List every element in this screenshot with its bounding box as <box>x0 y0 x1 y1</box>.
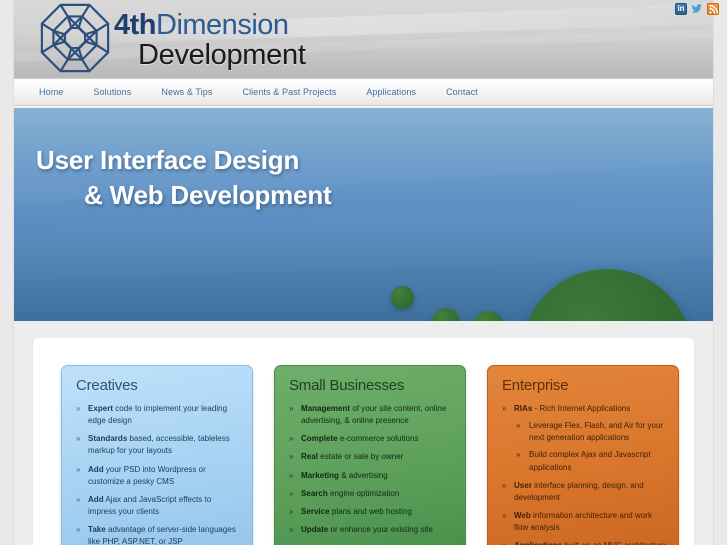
bullet-icon: » <box>289 403 293 415</box>
column-title-small-businesses: Small Businesses <box>289 377 453 394</box>
bullet-lead: Search <box>301 489 328 498</box>
main-navigation: Home Solutions News & Tips Clients & Pas… <box>14 78 713 106</box>
bullet-lead: Expert <box>88 404 113 413</box>
bullet-icon: » <box>289 470 293 482</box>
list-item: »Take advantage of server-side languages… <box>74 524 240 545</box>
bullet-rest: Ajax and JavaScript effects to impress y… <box>88 495 211 516</box>
list-item: »Web information architecture and work f… <box>500 510 666 534</box>
bullet-lead: Complete <box>301 434 338 443</box>
bullet-rest: & advertising <box>339 471 388 480</box>
nav-item-applications[interactable]: Applications <box>366 87 416 97</box>
nav-item-news-tips[interactable]: News & Tips <box>161 87 212 97</box>
twitter-icon[interactable] <box>691 3 703 15</box>
bullet-lead: User <box>514 481 532 490</box>
rss-icon[interactable] <box>707 3 719 15</box>
bullet-lead: Web <box>514 511 531 520</box>
bullet-rest: advantage of server-side languages like … <box>88 525 236 545</box>
bullet-lead: Update <box>301 525 328 534</box>
bullet-lead: Real <box>301 452 318 461</box>
bullet-icon: » <box>516 420 520 432</box>
bullet-lead: Standards <box>88 434 127 443</box>
bullet-rest: information architecture and work flow a… <box>514 511 652 532</box>
hero-title-line-2: & Web Development <box>84 178 332 212</box>
main-content-area: Creatives »Expert code to implement your… <box>14 321 713 545</box>
bullet-icon: » <box>76 464 80 476</box>
bullet-lead: RIAs <box>514 404 532 413</box>
bullet-lead: Service <box>301 507 330 516</box>
bullet-icon: » <box>76 524 80 536</box>
bullet-icon: » <box>289 451 293 463</box>
list-item: »Marketing & advertising <box>287 470 453 482</box>
sub-bullet-text: Leverage Flex, Flash, and Air for your n… <box>529 421 663 442</box>
site-logo[interactable]: 4thDimension Development <box>38 2 306 74</box>
decorative-dot-small <box>391 286 414 309</box>
list-item: »Add your PSD into Wordpress or customiz… <box>74 464 240 488</box>
bullet-icon: » <box>289 506 293 518</box>
bullet-rest: plans and web hosting <box>330 507 412 516</box>
bullet-rest: - Rich Internet Applications <box>532 404 630 413</box>
column-creatives: Creatives »Expert code to implement your… <box>61 365 253 545</box>
nav-item-home[interactable]: Home <box>39 87 63 97</box>
bullet-rest: estate or sale by owner <box>318 452 403 461</box>
logo-dimension: Dimension <box>156 9 289 41</box>
bullet-lead: Management <box>301 404 350 413</box>
sub-list-item: »Leverage Flex, Flash, and Air for your … <box>514 420 666 444</box>
bullet-lead: Add <box>88 495 104 504</box>
content-card: Creatives »Expert code to implement your… <box>33 338 694 545</box>
sub-bullet-text: Build complex Ajax and Javascript applic… <box>529 450 651 471</box>
list-item: »Update or enhance your existing site <box>287 524 453 536</box>
list-item: »Search engine optimization <box>287 488 453 500</box>
sub-list-item: »Build complex Ajax and Javascript appli… <box>514 449 666 473</box>
list-item: »Service plans and web hosting <box>287 506 453 518</box>
logo-line-2: Development <box>138 41 306 70</box>
list-item: »Expert code to implement your leading e… <box>74 403 240 427</box>
bullet-icon: » <box>516 449 520 461</box>
sub-bullet-list-rias: »Leverage Flex, Flash, and Air for your … <box>514 420 666 474</box>
bullet-list-enterprise: »RIAs - Rich Internet Applications »Leve… <box>500 403 666 545</box>
page-root: 4thDimension Development Home Solutions … <box>0 0 727 545</box>
list-item: »Applications built on an MVC architectu… <box>500 540 666 545</box>
list-item: »RIAs - Rich Internet Applications »Leve… <box>500 403 666 474</box>
logo-wordmark: 4thDimension Development <box>114 7 306 70</box>
column-small-businesses: Small Businesses »Management of your sit… <box>274 365 466 545</box>
bullet-icon: » <box>76 433 80 445</box>
bullet-list-creatives: »Expert code to implement your leading e… <box>74 403 240 545</box>
list-item: »Management of your site content, online… <box>287 403 453 427</box>
site-header: 4thDimension Development <box>14 0 713 78</box>
list-item: »Add Ajax and JavaScript effects to impr… <box>74 494 240 518</box>
bullet-list-small-businesses: »Management of your site content, online… <box>287 403 453 536</box>
bullet-rest: interface planning, design, and developm… <box>514 481 644 502</box>
logo-th: th <box>130 9 156 41</box>
column-title-enterprise: Enterprise <box>502 377 666 394</box>
bullet-icon: » <box>289 524 293 536</box>
bullet-icon: » <box>502 540 506 545</box>
bullet-icon: » <box>502 480 506 492</box>
service-columns: Creatives »Expert code to implement your… <box>61 365 679 545</box>
bullet-icon: » <box>76 494 80 506</box>
logo-line-1: 4thDimension <box>114 11 306 40</box>
bullet-rest: or enhance your existing site <box>328 525 433 534</box>
nav-item-solutions[interactable]: Solutions <box>93 87 131 97</box>
bullet-icon: » <box>502 510 506 522</box>
list-item: »Complete e-commerce solutions <box>287 433 453 445</box>
hero-banner: User Interface Design & Web Development … <box>14 108 713 321</box>
bullet-rest: engine optimization <box>328 489 400 498</box>
bullet-icon: » <box>502 403 506 415</box>
logo-num: 4 <box>114 9 130 41</box>
hero-title-line-1: User Interface Design <box>36 145 299 175</box>
hero-title: User Interface Design & Web Development <box>36 143 332 212</box>
nav-item-contact[interactable]: Contact <box>446 87 478 97</box>
bullet-icon: » <box>289 433 293 445</box>
social-links-bar <box>675 0 719 18</box>
linkedin-icon[interactable] <box>675 3 687 15</box>
list-item: »Real estate or sale by owner <box>287 451 453 463</box>
column-enterprise: Enterprise »RIAs - Rich Internet Applica… <box>487 365 679 545</box>
bullet-rest: e-commerce solutions <box>338 434 419 443</box>
bullet-rest: your PSD into Wordpress or customize a p… <box>88 465 206 486</box>
column-title-creatives: Creatives <box>76 377 240 394</box>
bullet-lead: Take <box>88 525 106 534</box>
list-item: »Standards based, accessible, tableless … <box>74 433 240 457</box>
bullet-icon: » <box>76 403 80 415</box>
bullet-lead: Add <box>88 465 104 474</box>
bullet-lead: Marketing <box>301 471 339 480</box>
bullet-icon: » <box>289 488 293 500</box>
nav-item-clients[interactable]: Clients & Past Projects <box>242 87 336 97</box>
tesseract-octagon-logo-icon <box>38 2 112 74</box>
bullet-lead: Applications <box>514 541 562 545</box>
list-item: »User interface planning, design, and de… <box>500 480 666 504</box>
